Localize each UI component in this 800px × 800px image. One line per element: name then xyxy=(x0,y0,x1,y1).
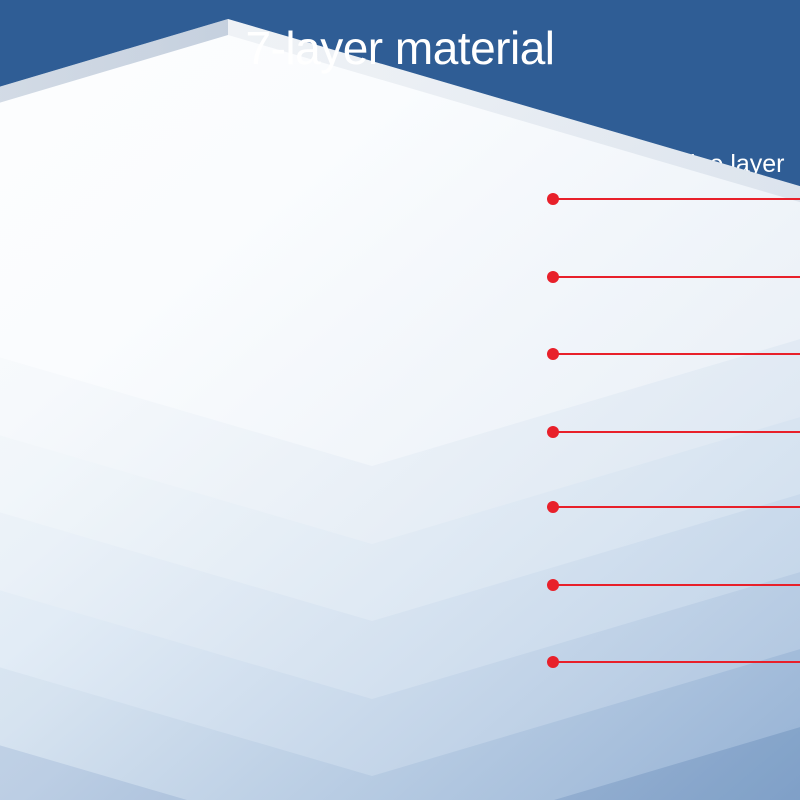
infographic-canvas: 7-layer material 1Hyaline layer2Oxygen i… xyxy=(0,0,800,800)
layer-stack-illustration xyxy=(0,0,800,800)
